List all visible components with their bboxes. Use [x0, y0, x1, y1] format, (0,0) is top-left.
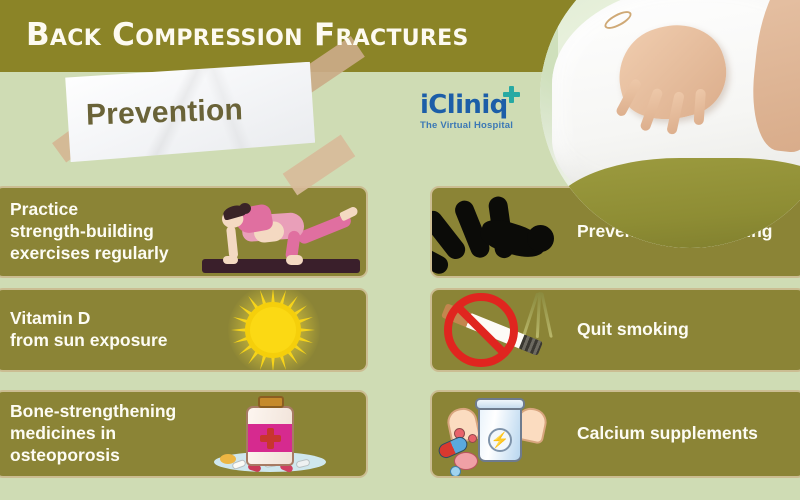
no-smoking-icon [432, 290, 567, 370]
card-practice-exercises: Practice strength-building exercises reg… [0, 186, 368, 278]
prevention-banner: Prevention [58, 56, 358, 174]
medical-plus-icon [503, 86, 520, 103]
prevention-label: Prevention [85, 93, 243, 132]
card-label: Practice strength-building exercises reg… [0, 199, 196, 265]
page-title: Back Compression Fractures [26, 17, 469, 53]
smoke-wisps [525, 292, 559, 338]
bottle-cap-shape [258, 396, 284, 408]
hair-bun-shape [239, 203, 251, 214]
sun-core [250, 307, 296, 353]
logo-text: iCliniq [420, 90, 508, 120]
logo-tagline: The Virtual Hospital [420, 121, 513, 131]
card-bone-medicines: Bone-strengthening medicines in osteopor… [0, 390, 368, 478]
card-label: Bone-strengthening medicines in osteopor… [0, 401, 196, 467]
prohibition-sign-icon [444, 293, 518, 367]
calcium-jar-icon: ⚡ [432, 392, 567, 476]
card-calcium-supplements: ⚡ Calcium supplements [430, 390, 800, 478]
hand-shape [223, 256, 238, 264]
arm-shape [226, 226, 238, 260]
red-cross-icon [260, 435, 281, 442]
card-quit-smoking: Quit smoking [430, 288, 800, 372]
card-label: Vitamin D from sun exposure [0, 308, 196, 352]
sun-icon [196, 290, 366, 370]
card-vitamin-d: Vitamin D from sun exposure [0, 288, 368, 372]
lightning-bolt-icon: ⚡ [488, 428, 512, 452]
icliniq-logo: iCliniq The Virtual Hospital [420, 92, 513, 131]
exercising-woman-icon [196, 188, 366, 276]
card-label: Quit smoking [567, 319, 800, 341]
knee-shape [286, 255, 303, 265]
hero-back-pain-photo [540, 0, 800, 248]
jar-lid-shape [475, 398, 525, 410]
card-label: Calcium supplements [567, 423, 800, 445]
logo-wordmark: iCliniq [420, 92, 508, 118]
pill-shape [468, 434, 477, 443]
infographic-page: Back Compression Fractures Prevention iC… [0, 0, 800, 500]
medicine-bottle-icon [196, 392, 366, 476]
pill-shape [450, 466, 461, 477]
